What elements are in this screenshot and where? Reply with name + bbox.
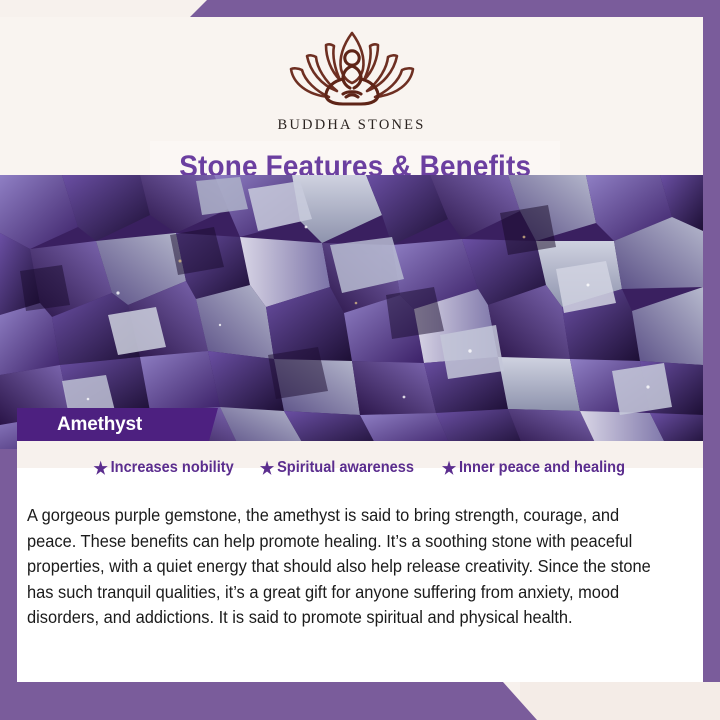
- brand-name: BUDDHA STONES: [278, 117, 426, 134]
- left-purple-band: [0, 408, 17, 720]
- bottom-purple-band: [0, 682, 537, 720]
- top-purple-band: [190, 0, 720, 17]
- star-icon: ★: [442, 460, 456, 477]
- benefits-row: ★ Increases nobility ★ Spiritual awarene…: [17, 459, 703, 477]
- header: BUDDHA STONES Stone Features & Benefits: [0, 17, 703, 175]
- benefit-item: ★ Inner peace and healing: [442, 459, 625, 477]
- benefit-item: ★ Spiritual awareness: [260, 459, 414, 477]
- amethyst-crystal-cluster-photo: [0, 175, 703, 449]
- benefit-label: Spiritual awareness: [277, 459, 414, 477]
- stone-name-tag: Amethyst: [17, 408, 218, 441]
- star-icon: ★: [94, 460, 108, 477]
- benefit-item: ★ Increases nobility: [94, 459, 234, 477]
- right-purple-band: [703, 0, 720, 720]
- stone-description: A gorgeous purple gemstone, the amethyst…: [27, 503, 665, 631]
- brand-logo: BUDDHA STONES: [0, 25, 703, 134]
- lotus-meditation-icon: [277, 25, 427, 116]
- stone-name: Amethyst: [57, 414, 142, 436]
- content-panel: ★ Increases nobility ★ Spiritual awarene…: [17, 441, 703, 682]
- star-icon: ★: [260, 460, 274, 477]
- benefit-label: Inner peace and healing: [459, 459, 625, 477]
- benefit-label: Increases nobility: [111, 459, 234, 477]
- bottom-cream-strip: [520, 682, 720, 720]
- infographic-page: BUDDHA STONES Stone Features & Benefits: [0, 0, 720, 720]
